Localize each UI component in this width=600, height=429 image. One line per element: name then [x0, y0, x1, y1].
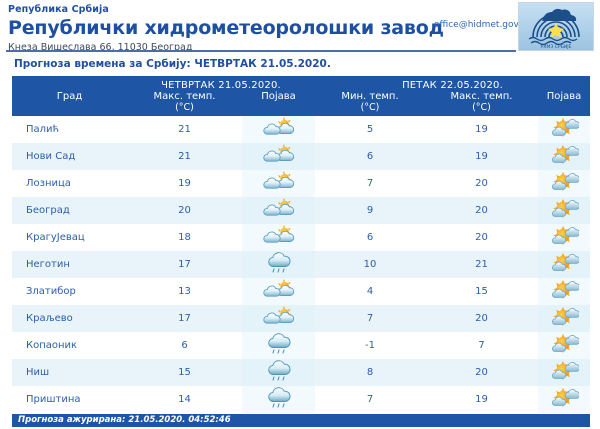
cell-tmin-friday: 7 [315, 386, 425, 413]
table-row: Приштина14719 [12, 386, 590, 413]
cell-city: КрагуЈевац [12, 224, 127, 251]
table-row: Лозница19720 [12, 170, 590, 197]
cell-icon-friday [538, 224, 590, 251]
cell-tmax-friday: 21 [425, 251, 538, 278]
cell-tmax-thursday: 20 [127, 197, 242, 224]
sun-behind-clouds-icon [263, 197, 295, 221]
table-row: КрагуЈевац18620 [12, 224, 590, 251]
head-tmin-friday-label: Мин. темп. [341, 91, 398, 102]
cell-icon-thursday [242, 197, 315, 224]
head-icon-thursday: Појава [242, 91, 315, 116]
sun-behind-small-cloud-icon [549, 332, 579, 356]
sun-behind-small-cloud-icon [549, 116, 579, 140]
head-tmax-friday-label: Макс. темп. [451, 91, 513, 102]
cell-city: Краљево [12, 305, 127, 332]
head-icon-friday: Појава [538, 91, 590, 116]
cell-tmax-thursday: 18 [127, 224, 242, 251]
cell-icon-friday [538, 251, 590, 278]
rhmz-logo-icon: РХМЗ СРБИЈЕ [518, 2, 594, 51]
table-row: Београд20920 [12, 197, 590, 224]
forecast-table-wrapper: ЧЕТВРТАК 21.05.2020. ПЕТАК 22.05.2020. Г… [12, 76, 590, 413]
header-divider [6, 50, 516, 52]
forecast-updated-bar: Прогноза ажурирана: 21.05.2020. 04:52:46 [12, 414, 590, 427]
cell-icon-friday [538, 197, 590, 224]
sun-behind-clouds-icon [263, 170, 295, 194]
cell-city: Приштина [12, 386, 127, 413]
cell-icon-thursday [242, 170, 315, 197]
cell-tmax-friday: 19 [425, 116, 538, 143]
sun-behind-small-cloud-icon [549, 278, 579, 302]
cell-tmax-thursday: 21 [127, 143, 242, 170]
cell-icon-thursday [242, 278, 315, 305]
head-tmax-thursday-unit: (°C) [127, 102, 242, 113]
cell-tmin-friday: 4 [315, 278, 425, 305]
cell-tmax-friday: 20 [425, 224, 538, 251]
sun-behind-small-cloud-icon [549, 143, 579, 167]
cell-tmin-friday: 6 [315, 143, 425, 170]
cell-city: Ниш [12, 359, 127, 386]
sun-behind-small-cloud-icon [549, 305, 579, 329]
cell-tmin-friday: 5 [315, 116, 425, 143]
cell-icon-friday [538, 143, 590, 170]
cell-icon-thursday [242, 143, 315, 170]
rain-cloud-icon [264, 386, 294, 410]
logo-text: РХМЗ СРБИЈЕ [540, 44, 571, 50]
head-tmax-friday-unit: (°C) [425, 102, 538, 113]
cell-tmax-friday: 20 [425, 197, 538, 224]
cell-icon-friday [538, 332, 590, 359]
cell-tmin-friday: 10 [315, 251, 425, 278]
table-body: Палић21519Нови Сад21619Лозница19720Беогр… [12, 116, 590, 413]
table-head: ЧЕТВРТАК 21.05.2020. ПЕТАК 22.05.2020. Г… [12, 76, 590, 116]
address-label: Кнеза Вишеслава 66, 11030 Београд [8, 41, 600, 54]
cell-icon-friday [538, 170, 590, 197]
cell-tmax-friday: 19 [425, 386, 538, 413]
cell-tmin-friday: 8 [315, 359, 425, 386]
rhmz-logo-graphic: РХМЗ СРБИЈЕ [519, 3, 593, 50]
sun-behind-clouds-icon [263, 224, 295, 248]
cell-tmax-friday: 20 [425, 170, 538, 197]
cell-tmax-friday: 7 [425, 332, 538, 359]
table-row: Ниш15820 [12, 359, 590, 386]
head-spacer [12, 76, 127, 91]
cell-city: Палић [12, 116, 127, 143]
cell-city: Нови Сад [12, 143, 127, 170]
table-row: Неготин171021 [12, 251, 590, 278]
head-tmax-thursday-label: Макс. темп. [154, 91, 216, 102]
cell-icon-friday [538, 386, 590, 413]
rain-cloud-icon [264, 359, 294, 383]
sun-behind-small-cloud-icon [549, 359, 579, 383]
cell-tmax-thursday: 13 [127, 278, 242, 305]
sun-behind-small-cloud-icon [549, 251, 579, 275]
cell-tmax-thursday: 15 [127, 359, 242, 386]
head-tmax-thursday: Макс. темп. (°C) [127, 91, 242, 116]
head-day2: ПЕТАК 22.05.2020. [315, 76, 590, 91]
cell-icon-thursday [242, 332, 315, 359]
cell-tmin-friday: 6 [315, 224, 425, 251]
sun-behind-clouds-icon [263, 305, 295, 329]
cell-tmax-thursday: 19 [127, 170, 242, 197]
cell-icon-friday [538, 359, 590, 386]
email-link[interactable]: office@hidmet.gov.rs [434, 20, 529, 30]
sun-behind-small-cloud-icon [549, 197, 579, 221]
cell-tmin-friday: 7 [315, 305, 425, 332]
sun-behind-clouds-icon [263, 116, 295, 140]
cell-icon-thursday [242, 386, 315, 413]
cell-icon-friday [538, 116, 590, 143]
cell-city: Копаоник [12, 332, 127, 359]
table-row: Копаоник6-17 [12, 332, 590, 359]
sun-behind-small-cloud-icon [549, 170, 579, 194]
cell-tmax-thursday: 17 [127, 251, 242, 278]
page-title: Прогноза времена за Србију: ЧЕТВРТАК 21.… [14, 58, 600, 70]
forecast-table: ЧЕТВРТАК 21.05.2020. ПЕТАК 22.05.2020. Г… [12, 76, 590, 413]
cell-icon-friday [538, 278, 590, 305]
cell-city: Златибор [12, 278, 127, 305]
cell-icon-thursday [242, 305, 315, 332]
cell-tmin-friday: 7 [315, 170, 425, 197]
rain-cloud-icon [264, 332, 294, 356]
sun-behind-clouds-icon [263, 278, 295, 302]
head-tmin-friday-unit: (°C) [315, 102, 425, 113]
page-header: Република Србија Републички хидрометеоро… [0, 0, 600, 52]
cell-tmax-friday: 19 [425, 143, 538, 170]
table-row: Златибор13415 [12, 278, 590, 305]
table-head-day-row: ЧЕТВРТАК 21.05.2020. ПЕТАК 22.05.2020. [12, 76, 590, 91]
cell-tmin-friday: -1 [315, 332, 425, 359]
table-row: Краљево17720 [12, 305, 590, 332]
head-tmax-friday: Макс. темп. (°C) [425, 91, 538, 116]
table-head-column-row: Град Макс. темп. (°C) Појава Мин. темп. … [12, 91, 590, 116]
cell-icon-friday [538, 305, 590, 332]
head-day1: ЧЕТВРТАК 21.05.2020. [127, 76, 315, 91]
cell-city: Београд [12, 197, 127, 224]
rain-cloud-icon [264, 251, 294, 275]
sun-behind-small-cloud-icon [549, 224, 579, 248]
head-tmin-friday: Мин. темп. (°C) [315, 91, 425, 116]
sun-behind-small-cloud-icon [549, 386, 579, 410]
cell-icon-thursday [242, 359, 315, 386]
cell-tmax-thursday: 14 [127, 386, 242, 413]
cell-icon-thursday [242, 116, 315, 143]
cell-tmax-friday: 15 [425, 278, 538, 305]
cell-tmax-friday: 20 [425, 305, 538, 332]
cell-icon-thursday [242, 251, 315, 278]
cell-city: Неготин [12, 251, 127, 278]
cell-tmin-friday: 9 [315, 197, 425, 224]
sun-behind-clouds-icon [263, 143, 295, 167]
cell-tmax-thursday: 21 [127, 116, 242, 143]
head-city: Град [12, 91, 127, 116]
cell-tmax-friday: 20 [425, 359, 538, 386]
cell-tmax-thursday: 17 [127, 305, 242, 332]
table-row: Нови Сад21619 [12, 143, 590, 170]
cell-city: Лозница [12, 170, 127, 197]
table-row: Палић21519 [12, 116, 590, 143]
country-label: Република Србија [8, 4, 600, 16]
cell-icon-thursday [242, 224, 315, 251]
cell-tmax-thursday: 6 [127, 332, 242, 359]
